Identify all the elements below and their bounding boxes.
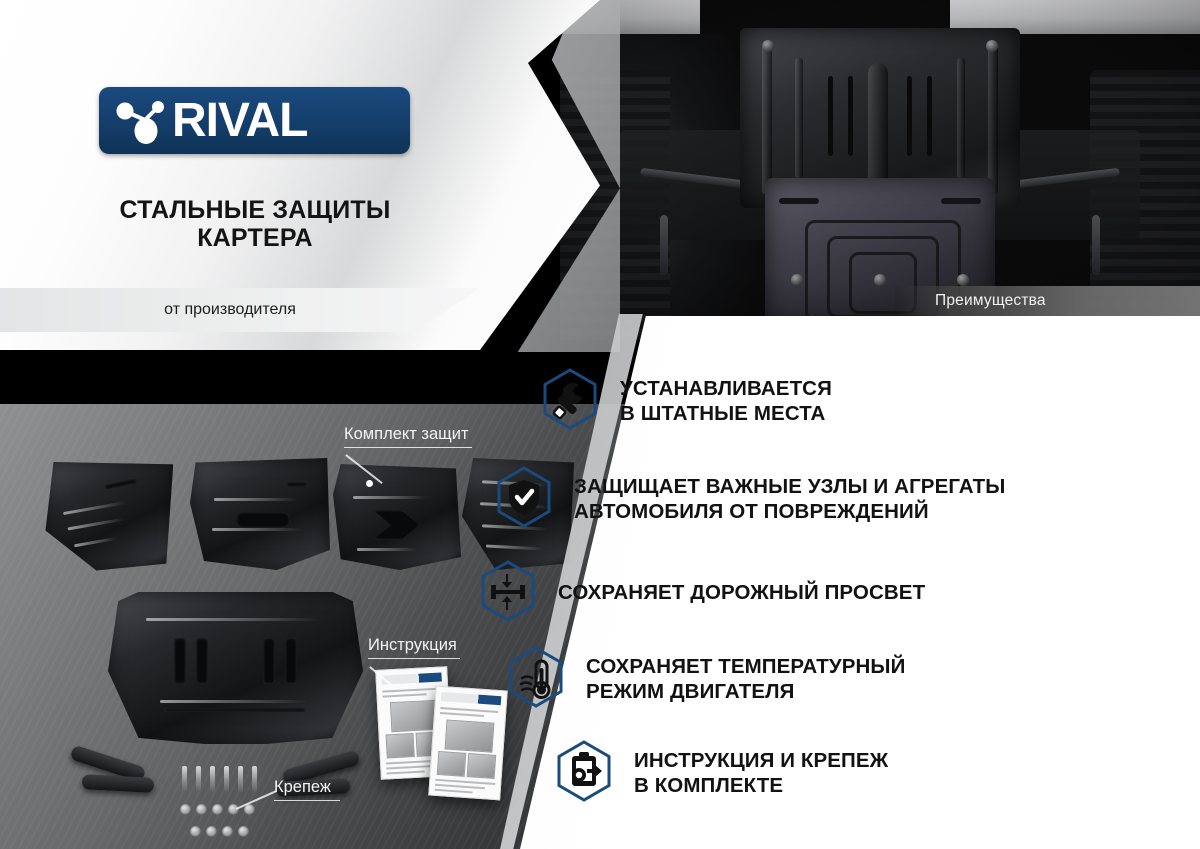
- feature-item-temperature: СОХРАНЯЕТ ТЕМПЕРАТУРНЫЙ РЕЖИМ ДВИГАТЕЛЯ: [508, 646, 905, 713]
- rival-logo: RIVAL: [99, 87, 410, 154]
- ground-clearance-icon: [480, 560, 536, 627]
- feature-label-temperature: СОХРАНЯЕТ ТЕМПЕРАТУРНЫЙ РЕЖИМ ДВИГАТЕЛЯ: [586, 655, 905, 703]
- feature-item-kit-included: ИНСТРУКЦИЯ И КРЕПЕЖ В КОМПЛЕКТЕ: [556, 740, 888, 807]
- feature-label-clearance: СОХРАНЯЕТ ДОРОЖНЫЙ ПРОСВЕТ: [558, 581, 925, 605]
- mount-bracket-left-2: [82, 774, 155, 793]
- feature-label-protects: ЗАЩИЩАЕТ ВАЖНЫЕ УЗЛЫ И АГРЕГАТЫ АВТОМОБИ…: [574, 475, 1005, 523]
- hero-subtitle: от производителя: [164, 301, 296, 319]
- feature-item-clearance: СОХРАНЯЕТ ДОРОЖНЫЙ ПРОСВЕТ: [480, 560, 925, 627]
- skid-plate-2: [190, 458, 330, 570]
- manual-hardware-icon: [556, 740, 612, 807]
- callout-hardware-leader: [236, 790, 277, 809]
- callout-manual-label: Инструкция: [368, 637, 460, 654]
- feature-label-install: УСТАНАВЛИВАЕТСЯ В ШТАТНЫЕ МЕСТА: [620, 377, 832, 425]
- feature-item-install: УСТАНАВЛИВАЕТСЯ В ШТАТНЫЕ МЕСТА: [542, 368, 832, 435]
- callout-kit: Комплект защит: [344, 426, 472, 448]
- advantages-tab-label: Преимущества: [935, 292, 1046, 310]
- skid-plate-main: [108, 592, 363, 744]
- skid-plate-3: [333, 462, 461, 570]
- instruction-sheet-front: [428, 686, 507, 801]
- callout-hardware-label: Крепеж: [274, 779, 340, 796]
- feature-item-protects: ЗАЩИЩАЕТ ВАЖНЫЕ УЗЛЫ И АГРЕГАТЫ АВТОМОБИ…: [496, 466, 1005, 533]
- skid-plate-1: [43, 458, 177, 572]
- callout-hardware: Крепеж: [274, 779, 340, 801]
- logo-wordmark: RIVAL: [172, 97, 307, 145]
- callout-manual: Инструкция: [368, 637, 460, 659]
- thermometer-icon: [508, 646, 564, 713]
- callout-kit-dot: [366, 480, 373, 487]
- molecule-icon: [112, 96, 170, 146]
- shield-check-icon: [496, 466, 552, 533]
- hero-subtitle-strip: от производителя: [0, 288, 480, 332]
- wrench-icon: [542, 368, 598, 435]
- rival-promo-banner: Преимущества RIVAL СТАЛЬНЫЕ ЗАЩИТЫ КАРТЕ…: [0, 0, 1200, 849]
- page-title: СТАЛЬНЫЕ ЗАЩИТЫ КАРТЕРА: [0, 196, 510, 252]
- advantages-tab: Преимущества: [895, 286, 1200, 316]
- features-list: УСТАНАВЛИВАЕТСЯ В ШТАТНЫЕ МЕСТА ЗАЩИЩАЕТ…: [520, 316, 1200, 849]
- callout-kit-label: Комплект защит: [344, 426, 472, 443]
- feature-label-kit-included: ИНСТРУКЦИЯ И КРЕПЕЖ В КОМПЛЕКТЕ: [634, 749, 888, 797]
